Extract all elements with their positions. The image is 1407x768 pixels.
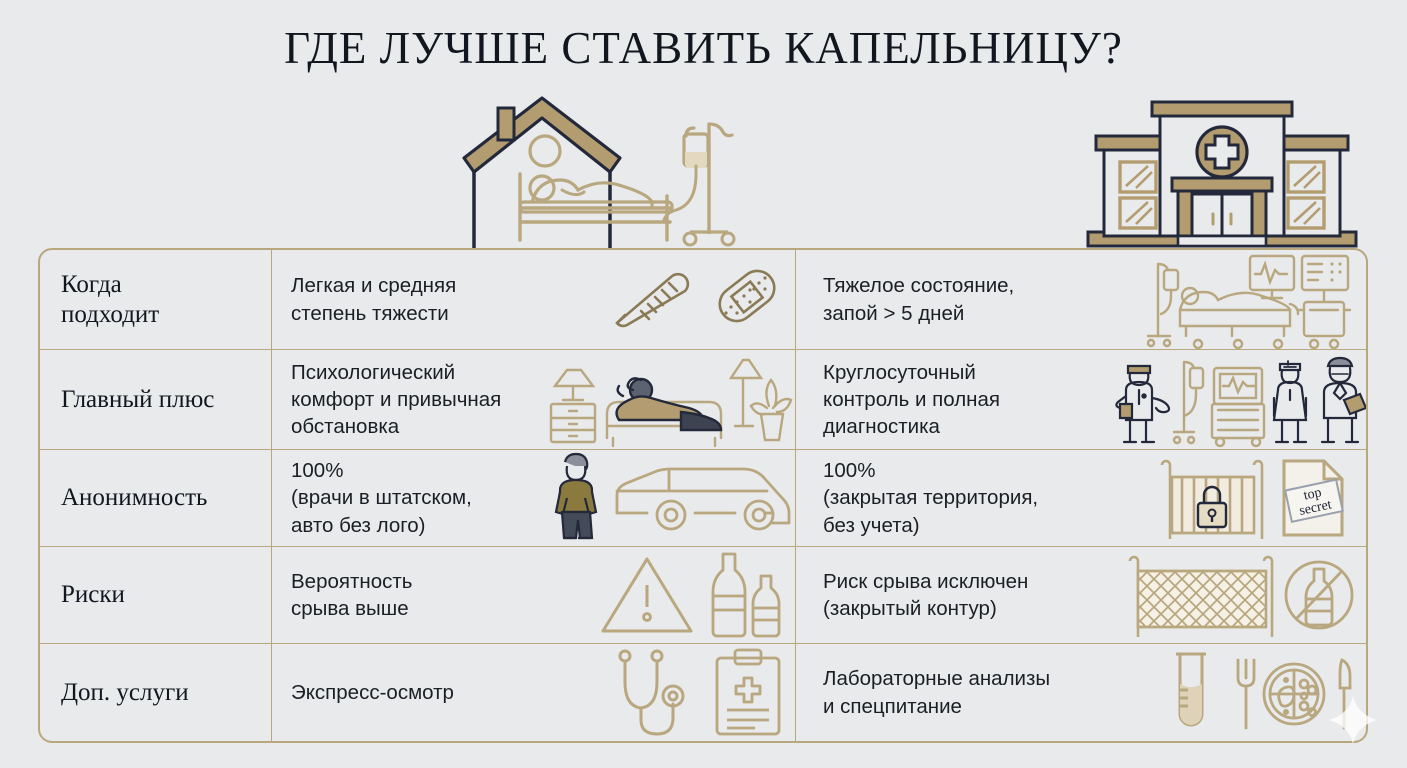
hospital-icon-group <box>1120 350 1358 449</box>
hospital-icon-group: top secret <box>1154 450 1358 546</box>
row-label-cell: Доп. услуги <box>40 644 272 741</box>
infographic-canvas: ГДЕ ЛУЧШЕ СТАВИТЬ КАПЕЛЬНИЦУ? <box>0 0 1407 768</box>
table-row: Доп. услуги Экспресс-осмотр <box>40 644 1366 741</box>
home-cell: 100% (врачи в штатском, авто без лого) <box>272 450 796 546</box>
home-icon-group <box>547 450 791 546</box>
home-text: Вероятность срыва выше <box>291 568 412 622</box>
home-cell: Легкая и средняя степень тяжести <box>272 250 796 349</box>
test-tube-icon <box>1156 648 1226 738</box>
row-label-cell: Главный плюс <box>40 350 272 449</box>
hospital-text: Тяжелое состояние, запой > 5 дней <box>823 272 1014 326</box>
hospital-icon-group <box>1126 547 1358 643</box>
hospital-text: 100% (закрытая территория, без учета) <box>823 457 1038 538</box>
clipboard-medical-icon <box>707 648 791 738</box>
stamp-line-1: top <box>1302 485 1323 503</box>
plainclothes-person-icon <box>547 452 605 544</box>
unmarked-van-icon <box>609 455 791 541</box>
row-label-cell: Риски <box>40 547 272 643</box>
medical-staff-group-icon <box>1120 352 1358 448</box>
stethoscope-icon <box>611 648 703 738</box>
home-cell: Психологический комфорт и привычная обст… <box>272 350 796 449</box>
table-row: Когда подходит Легкая и средняя степень … <box>40 250 1366 350</box>
hospital-text: Риск срыва исключен (закрытый контур) <box>823 568 1028 622</box>
living-room-scene-icon <box>545 352 791 448</box>
comparison-table: Когда подходит Легкая и средняя степень … <box>38 248 1368 743</box>
stamp-line-2: secret <box>1298 497 1333 518</box>
row-label: Главный плюс <box>61 385 214 415</box>
home-icon-group <box>603 250 791 349</box>
row-label: Риски <box>61 580 125 610</box>
home-text: 100% (врачи в штатском, авто без лого) <box>291 457 472 538</box>
top-secret-document-icon: top secret <box>1268 455 1358 541</box>
table-row: Главный плюс Психологический комфорт и п… <box>40 350 1366 450</box>
table-row: Анонимность 100% (врачи в штатском, авто… <box>40 450 1366 547</box>
home-icon-group <box>599 547 791 643</box>
hospital-illustration <box>1082 96 1362 248</box>
home-text: Психологический комфорт и привычная обст… <box>291 359 501 440</box>
hospital-cell: Риск срыва исключен (закрытый контур) <box>796 547 1366 643</box>
bandage-icon <box>703 269 791 331</box>
page-title: ГДЕ ЛУЧШЕ СТАВИТЬ КАПЕЛЬНИЦУ? <box>0 22 1407 74</box>
hospital-cell: Тяжелое состояние, запой > 5 дней <box>796 250 1366 349</box>
row-label: Анонимность <box>61 483 207 513</box>
home-illustration <box>462 96 752 248</box>
hospital-cell: Лабораторные анализы и спецпитание <box>796 644 1366 741</box>
chain-link-fence-icon <box>1126 551 1276 639</box>
hospital-icon-group <box>1142 250 1358 349</box>
home-icon-group <box>545 350 791 449</box>
home-icon-group <box>611 644 791 741</box>
hospital-bed-with-iv-icon <box>1142 254 1358 346</box>
home-cell: Экспресс-осмотр <box>272 644 796 741</box>
row-label: Доп. услуги <box>61 678 189 708</box>
hospital-cell: 100% (закрытая территория, без учета) <box>796 450 1366 546</box>
locked-gate-icon <box>1154 453 1264 543</box>
no-alcohol-icon <box>1280 553 1358 637</box>
row-label: Когда подходит <box>61 270 159 329</box>
hospital-text: Круглосуточный контроль и полная диагнос… <box>823 359 1000 440</box>
home-text: Экспресс-осмотр <box>291 679 454 706</box>
row-label-cell: Когда подходит <box>40 250 272 349</box>
row-label-cell: Анонимность <box>40 450 272 546</box>
diamond-sparkle-watermark <box>1327 694 1379 746</box>
home-cell: Вероятность срыва выше <box>272 547 796 643</box>
table-row: Риски Вероятность срыва выше <box>40 547 1366 644</box>
hospital-cell: Круглосуточный контроль и полная диагнос… <box>796 350 1366 449</box>
hospital-text: Лабораторные анализы и спецпитание <box>823 665 1050 719</box>
home-text: Легкая и средняя степень тяжести <box>291 272 456 326</box>
bottles-icon <box>699 552 791 638</box>
warning-triangle-icon <box>599 553 695 637</box>
thermometer-icon <box>603 269 699 331</box>
